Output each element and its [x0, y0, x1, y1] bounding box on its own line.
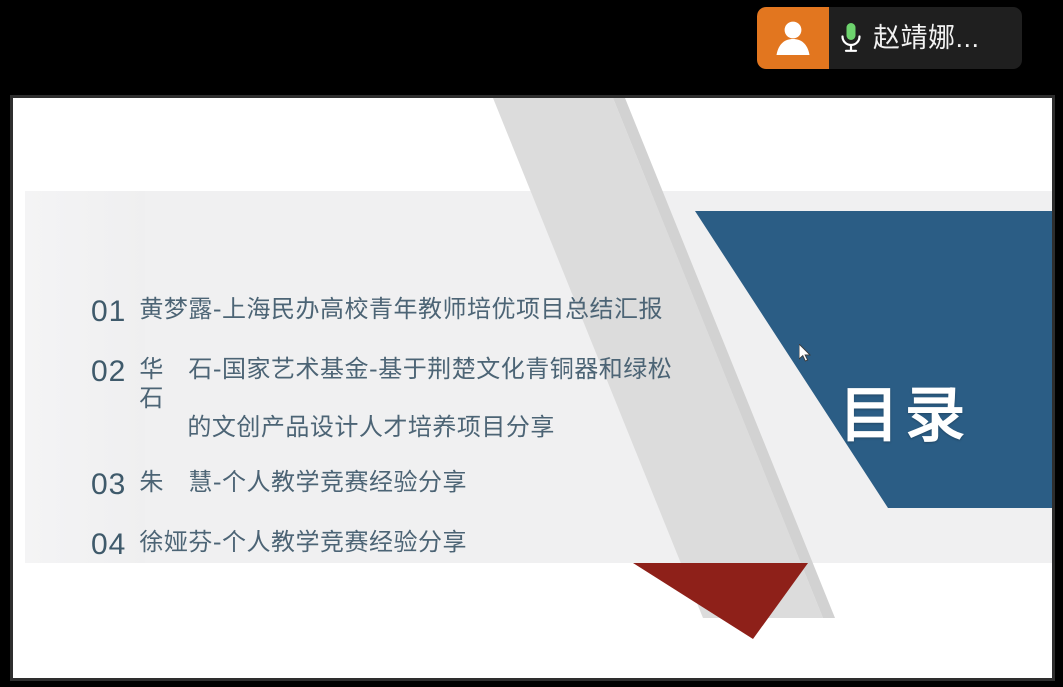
presentation-slide: 01 黄梦露-上海民办高校青年教师培优项目总结汇报 02 华 石-国家艺术基金-…	[13, 98, 1052, 678]
person-icon	[770, 15, 816, 61]
slide-title: 目录	[839, 386, 971, 446]
agenda-number: 03	[91, 468, 126, 502]
agenda-item-02[interactable]: 02 华 石-国家艺术基金-基于荆楚文化青铜器和绿松石 的文创产品设计人才培养项…	[91, 355, 691, 443]
agenda-label-line1: 华 石-国家艺术基金-基于荆楚文化青铜器和绿松石	[139, 355, 672, 412]
agenda-number: 02	[91, 355, 126, 389]
mic-status[interactable]	[829, 21, 873, 55]
agenda-label: 朱 慧-个人教学竞赛经验分享	[139, 468, 467, 497]
agenda-label: 徐娅芬-个人教学竞赛经验分享	[139, 528, 467, 557]
agenda-item-04[interactable]: 04 徐娅芬-个人教学竞赛经验分享	[91, 528, 691, 562]
avatar	[757, 7, 829, 69]
participant-name: 赵靖娜...	[873, 25, 988, 52]
agenda-number: 04	[91, 528, 126, 562]
agenda-label: 黄梦露-上海民办高校青年教师培优项目总结汇报	[139, 295, 663, 324]
microphone-icon	[838, 21, 864, 55]
conference-top-bar: 赵靖娜...	[0, 0, 1063, 95]
screen-share-frame: 01 黄梦露-上海民办高校青年教师培优项目总结汇报 02 华 石-国家艺术基金-…	[10, 95, 1055, 681]
agenda-item-01[interactable]: 01 黄梦露-上海民办高校青年教师培优项目总结汇报	[91, 295, 691, 329]
agenda-list: 01 黄梦露-上海民办高校青年教师培优项目总结汇报 02 华 石-国家艺术基金-…	[91, 295, 691, 588]
video-conference-window: 赵靖娜... 01 黄梦露-上海民办高校青年教师培	[0, 0, 1063, 687]
agenda-label-line2: 的文创产品设计人才培养项目分享	[139, 413, 691, 442]
participant-tile[interactable]: 赵靖娜...	[757, 7, 1022, 69]
agenda-label: 华 石-国家艺术基金-基于荆楚文化青铜器和绿松石 的文创产品设计人才培养项目分享	[139, 355, 691, 443]
agenda-number: 01	[91, 295, 126, 329]
agenda-item-03[interactable]: 03 朱 慧-个人教学竞赛经验分享	[91, 468, 691, 502]
